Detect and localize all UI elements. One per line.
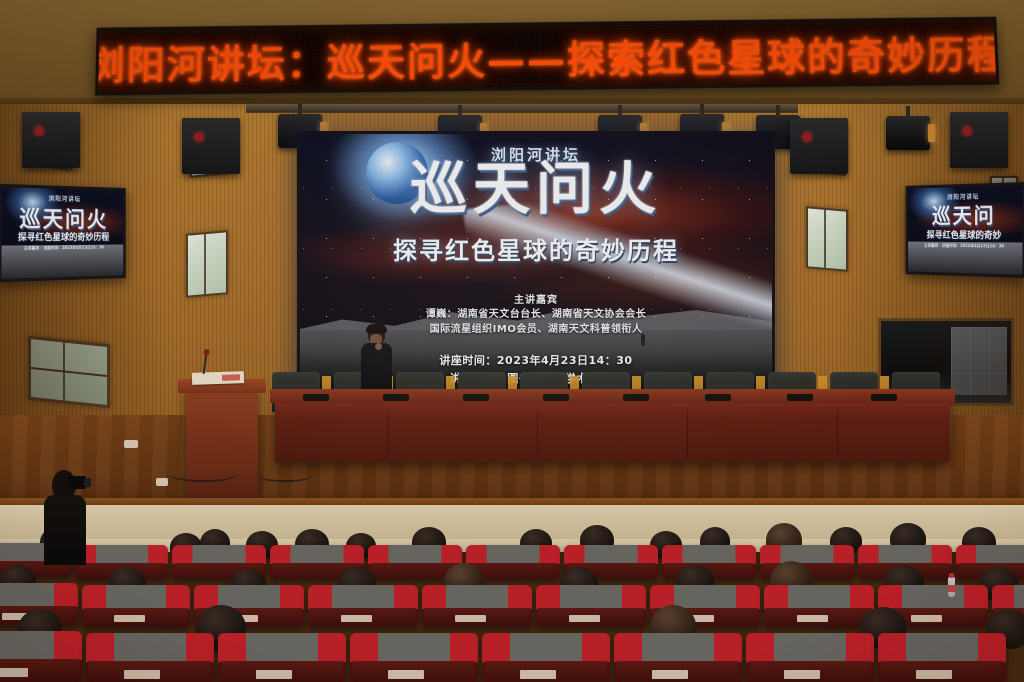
- lighting-truss: [246, 104, 798, 112]
- left-monitor-subtitle: 探寻红色星球的奇妙历程: [2, 230, 124, 244]
- auditorium-seat: [614, 633, 742, 682]
- screen-guest-line-1: 谭巍：湖南省天文台台长、湖南省天文协会会长: [300, 305, 772, 320]
- lectern-papers: [192, 371, 244, 385]
- table-microphone: [383, 394, 409, 401]
- auditorium-seat: [536, 585, 646, 627]
- right-monitor-title: 巡天问: [908, 199, 1022, 230]
- screen-subtitle-text: 探寻红色星球的奇妙历程: [300, 231, 772, 266]
- led-scrolling-banner: 浏阳河讲坛：巡天问火——探索红色星球的奇妙历程: [95, 17, 999, 96]
- screen-guest-label: 主讲嘉宾: [300, 291, 772, 306]
- head-table: [275, 400, 950, 462]
- auditorium-seat: [0, 631, 82, 682]
- water-bottle: [948, 577, 955, 597]
- window-left-2: [186, 230, 228, 298]
- rear-wall-strip: [0, 505, 1024, 539]
- camera-operator-body: [44, 495, 86, 565]
- video-camera-icon: [68, 476, 86, 489]
- presenter-cap: [366, 324, 387, 333]
- stage-spotlight-5: [886, 116, 930, 150]
- head-table-seam: [687, 410, 688, 458]
- wall-speaker-left: [182, 118, 240, 174]
- window-right-2: [806, 206, 848, 272]
- side-monitor-left: 浏阳河讲坛 巡天问火 探寻红色星球的奇妙历程 主讲嘉宾 · 讲座时间：2023年…: [0, 184, 126, 282]
- auditorium-seat: [82, 585, 190, 627]
- auditorium-seat: [422, 585, 532, 627]
- auditorium-seat: [308, 585, 418, 627]
- screen-title-text: 巡天问火: [300, 160, 772, 220]
- auditorium-seat: [350, 633, 478, 682]
- stage-cable: [168, 466, 238, 482]
- stage-floor-paper: [156, 478, 168, 486]
- auditorium-seat: [764, 585, 874, 627]
- table-microphone: [303, 394, 329, 401]
- auditorium-seat: [86, 633, 214, 682]
- auditorium-photo: 浏阳河讲坛：巡天问火——探索红色星球的奇妙历程 浏阳河讲坛 巡天问火 探寻红色星…: [0, 0, 1024, 682]
- auditorium-seat: [878, 633, 1006, 682]
- head-table-seam: [387, 410, 388, 458]
- table-microphone: [787, 394, 813, 401]
- auditorium-seat: [746, 633, 874, 682]
- auditorium-seat: [482, 633, 610, 682]
- wall-speaker-far-right: [950, 112, 1008, 168]
- head-table-seam: [537, 410, 538, 458]
- table-microphone: [623, 394, 649, 401]
- table-microphone: [871, 394, 897, 401]
- side-monitor-right: 浏阳河讲坛 巡天问 探寻红色星球的奇妙 主讲嘉宾 · 讲座时间：2023年4月2…: [906, 182, 1024, 278]
- window-door-left: [28, 336, 110, 409]
- stage-floor-paper: [124, 440, 138, 448]
- audience-seating-area: [0, 505, 1024, 682]
- booth-glass-pane: [951, 327, 1007, 395]
- wall-speaker-far-left: [22, 112, 80, 168]
- led-banner-text: 浏阳河讲坛：巡天问火——探索红色星球的奇妙历程: [95, 23, 999, 89]
- table-microphone: [543, 394, 569, 401]
- table-microphone: [463, 394, 489, 401]
- presenter-hand-with-mic: [375, 343, 382, 350]
- head-table-seam: [837, 410, 838, 458]
- head-table-surface: [270, 389, 955, 403]
- stage-cable: [258, 470, 312, 482]
- right-monitor-subtitle: 探寻红色星球的奇妙: [908, 228, 1022, 242]
- wall-speaker-right: [790, 118, 848, 174]
- table-microphone: [705, 394, 731, 401]
- camera-operator: [38, 470, 98, 565]
- auditorium-seat: [218, 633, 346, 682]
